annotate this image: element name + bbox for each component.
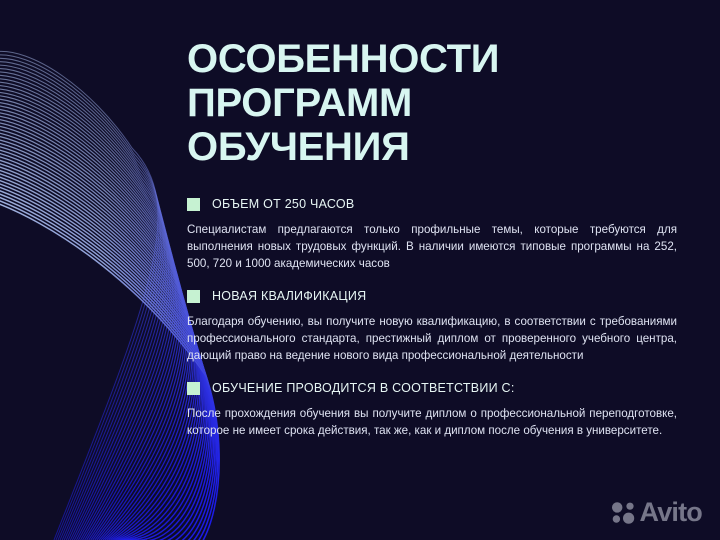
content-block: ОБЪЕМ ОТ 250 ЧАСОВ Специалистам предлага…	[187, 197, 677, 439]
slide-canvas: ОСОБЕННОСТИ ПРОГРАММ ОБУЧЕНИЯ ОБЪЕМ ОТ 2…	[0, 0, 720, 540]
section-body-3: После прохождения обучения вы получите д…	[187, 405, 677, 439]
square-bullet-icon	[187, 198, 200, 211]
section-body-1: Специалистам предлагаются только профиль…	[187, 221, 677, 272]
avito-watermark: Avito	[611, 499, 703, 526]
section-heading-3: ОБУЧЕНИЕ ПРОВОДИТСЯ В СООТВЕТСТВИИ С:	[187, 381, 677, 395]
section-heading-text-3: ОБУЧЕНИЕ ПРОВОДИТСЯ В СООТВЕТСТВИИ С:	[212, 381, 515, 395]
avito-logo-icon	[611, 501, 637, 525]
section-heading-text-1: ОБЪЕМ ОТ 250 ЧАСОВ	[212, 197, 355, 211]
feature-section-2: НОВАЯ КВАЛИФИКАЦИЯ Благодаря обучению, в…	[187, 289, 677, 364]
feature-section-3: ОБУЧЕНИЕ ПРОВОДИТСЯ В СООТВЕТСТВИИ С: По…	[187, 381, 677, 439]
section-heading-2: НОВАЯ КВАЛИФИКАЦИЯ	[187, 289, 677, 303]
section-body-2: Благодаря обучению, вы получите новую кв…	[187, 313, 677, 364]
section-heading-text-2: НОВАЯ КВАЛИФИКАЦИЯ	[212, 289, 366, 303]
avito-wordmark: Avito	[640, 499, 703, 526]
square-bullet-icon	[187, 382, 200, 395]
square-bullet-icon	[187, 290, 200, 303]
feature-section-1: ОБЪЕМ ОТ 250 ЧАСОВ Специалистам предлага…	[187, 197, 677, 272]
section-heading-1: ОБЪЕМ ОТ 250 ЧАСОВ	[187, 197, 677, 211]
page-title: ОСОБЕННОСТИ ПРОГРАММ ОБУЧЕНИЯ	[187, 37, 587, 169]
title-block: ОСОБЕННОСТИ ПРОГРАММ ОБУЧЕНИЯ	[187, 37, 587, 169]
